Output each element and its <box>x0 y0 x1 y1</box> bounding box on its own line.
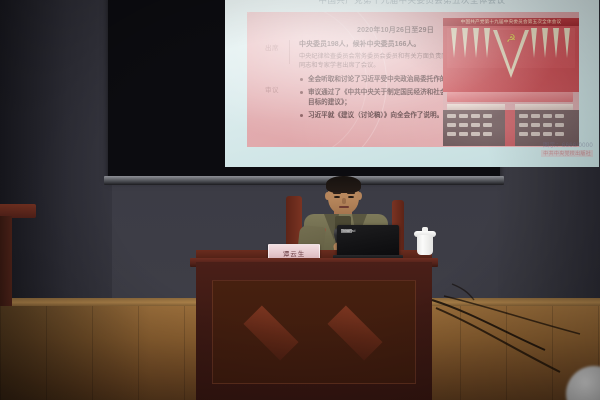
hall-flag-spike <box>484 28 490 58</box>
hall-flag-spike <box>531 28 537 58</box>
projection-screen-surface: 中国共产党第十九届中央委员会第五次全体会议 2020年10月26日至29日 出席… <box>225 0 599 167</box>
presentation-room-scene: 中国共产党第十九届中央委员会第五次全体会议 2020年10月26日至29日 出席… <box>0 0 600 400</box>
slide-margin-label-attendance: 出席 <box>265 42 279 52</box>
slide-credit-line-2: 中共中央党校出版社 <box>541 150 593 157</box>
podium-panel-inset <box>212 280 416 384</box>
presenter-nameplate-text: 谭云生 <box>283 248 306 258</box>
tea-cup <box>417 235 433 255</box>
podium-diamond-inlay <box>327 305 382 360</box>
presenter-eye-left <box>334 196 340 199</box>
hall-flag-spike <box>553 28 559 58</box>
presenter-eyebrow-right <box>347 192 355 194</box>
slide-embedded-photo: 中国共产党第十九届中央委员会第五次全体会议 ☭ <box>443 18 579 146</box>
hall-stage-front <box>447 92 573 102</box>
hall-flag-spike <box>542 28 548 58</box>
slide-credit-line-1: 图示：6666/0000 <box>541 140 593 149</box>
podium-diamond-inlay <box>243 305 298 360</box>
presenter-eyebrow-left <box>333 192 341 194</box>
left-wall-shadow <box>0 0 112 305</box>
slide-title: 中国共产党第十九届中央委员会第五次全体会议 <box>225 0 599 6</box>
hall-flag-spike <box>473 28 479 58</box>
slide-margin-divider <box>289 40 290 64</box>
floor-shadow-left <box>0 306 150 400</box>
hall-flag-spike <box>451 28 457 58</box>
slide-credit-block: 图示：6666/0000 中共中央党校出版社 <box>541 140 593 157</box>
hall-flag-spike <box>564 28 570 58</box>
presenter-hair <box>326 176 361 193</box>
party-emblem-icon: ☭ <box>504 32 518 46</box>
slide-margin-label-deliberation: 审议 <box>265 84 279 94</box>
hall-flag-spike <box>462 28 468 58</box>
presenter-ear-right <box>357 192 362 200</box>
laptop: ThinkPad <box>337 225 399 257</box>
podium <box>196 262 432 400</box>
presenter-eye-right <box>348 196 354 199</box>
slide-content-panel: 2020年10月26日至29日 出席 审议 中央委员198人，候补中央委员166… <box>247 12 579 147</box>
slide-date: 2020年10月26日至29日 <box>357 25 434 35</box>
presenter-nose <box>342 198 346 204</box>
presenter-ear-left <box>325 192 330 200</box>
left-desk-leg <box>0 216 12 306</box>
projection-screen-frame: 中国共产党第十九届中央委员会第五次全体会议 2020年10月26日至29日 出席… <box>108 0 500 180</box>
laptop-brand-logo: ThinkPad <box>341 229 352 233</box>
hall-center-aisle-carpet <box>505 110 515 146</box>
hall-banner-text: 中国共产党第十九届中央委员会第五次全体会议 <box>443 18 579 26</box>
